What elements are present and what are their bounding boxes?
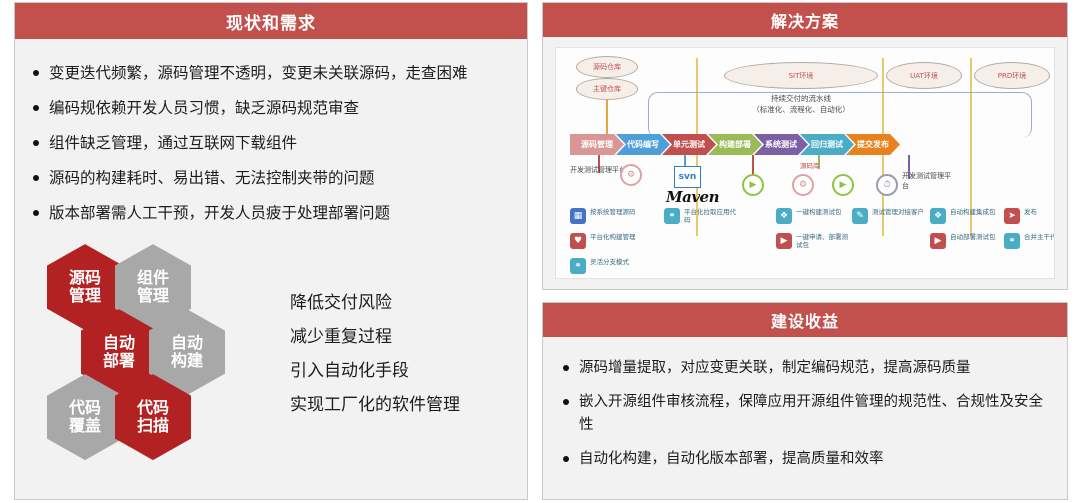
branch-icon: ⚭: [1004, 233, 1020, 249]
issue-text: 变更迭代频繁，源码管理不透明，变更未关联源码，走查困难: [33, 61, 527, 85]
svn-logo-icon: svn: [674, 166, 701, 188]
list-item: ▦ 按系统管理源码: [570, 208, 650, 224]
play-icon: ▶: [776, 233, 792, 249]
legend-label: 平台化构建管理: [590, 233, 636, 241]
cicd-pipeline-diagram: 源码仓库 主键仓库 SIT环境 UAT环境 PRD环境 持续交付的流水线 （标准…: [555, 47, 1055, 279]
pipeline-stage-row: 源码管理 代码编写 单元测试 构建部署 系统测试 回归测试 提交发布: [570, 134, 892, 155]
send-icon: ➤: [1004, 208, 1020, 224]
goal-text: 实现工厂化的软件管理: [290, 388, 460, 422]
hexagon-label-line1: 组件: [137, 269, 169, 287]
benefit-panel: 建设收益 源码增量提取，对应变更关联，制定编码规范，提高源码质量 嵌入开源组件审…: [542, 302, 1068, 500]
hexagon-label-line2: 构建: [171, 352, 203, 370]
solution-panel-title: 解决方案: [543, 3, 1067, 37]
hexagon-label-line1: 源码: [69, 269, 101, 287]
list-item: 编码规依赖开发人员习惯，缺乏源码规范审查: [33, 96, 527, 120]
capability-hexagon-cluster: 源码 管理 组件 管理 自动 部署 自动 构建 代码 覆盖: [47, 239, 277, 469]
list-item: ❖ 自动构建集成包: [930, 208, 1006, 224]
list-item: ⚭ 合并主干代码: [1004, 233, 1055, 249]
list-item: 组件缺乏管理，通过互联网下载组件: [33, 131, 527, 155]
list-item: 自动化构建，自动化版本部署，提高质量和效率: [563, 448, 1049, 470]
legend-label: 自动部署测试包: [950, 233, 996, 241]
legend-label: 灵活分支模式: [590, 258, 629, 266]
issue-list: 变更迭代频繁，源码管理不透明，变更未关联源码，走查困难 编码规依赖开发人员习惯，…: [33, 61, 527, 225]
build-repository-node: 主键仓库: [576, 78, 638, 100]
gauge-icon: ⏱: [876, 174, 898, 196]
pipeline-caption: 持续交付的流水线 （标准化、流程化、自动化）: [706, 94, 896, 116]
grid-icon: ▦: [570, 208, 586, 224]
pipeline-caption-line2: （标准化、流程化、自动化）: [706, 105, 896, 116]
list-item: ⚭ 灵活分支模式: [570, 258, 650, 274]
issue-text: 源码的构建耗时、易出错、无法控制夹带的问题: [33, 166, 527, 190]
play-icon: ▶: [930, 233, 946, 249]
legend-column-3: ❖ 一键构建测试包 ▶ 一键申请、部署测试包: [776, 208, 856, 259]
hexagon-label-line2: 部署: [103, 352, 135, 370]
source-repo-mini-label: 源码库: [800, 160, 820, 170]
environment-node-sit: SIT环境: [724, 62, 878, 89]
hexagon-label-line2: 覆盖: [69, 417, 101, 435]
goal-list: 降低交付风险 减少重复过程 引入自动化手段 实现工厂化的软件管理: [290, 286, 460, 422]
branch-icon: ⚭: [664, 208, 680, 224]
legend-label: 自动构建集成包: [950, 208, 996, 216]
legend-label: 测试管理对接客户: [872, 208, 924, 216]
list-item: ▶ 一键申请、部署测试包: [776, 233, 856, 250]
environment-node-uat: UAT环境: [886, 62, 962, 89]
list-item: ▶ 自动部署测试包: [930, 233, 1006, 249]
pipeline-stage-unit-test: 单元测试: [662, 134, 716, 155]
goal-text: 降低交付风险: [290, 286, 460, 320]
pipeline-caption-line1: 持续交付的流水线: [706, 94, 896, 105]
benefit-panel-body: 源码增量提取，对应变更关联，制定编码规范，提高源码质量 嵌入开源组件审核流程，保…: [543, 357, 1067, 471]
branch-icon: ⚭: [570, 258, 586, 274]
legend-column-1: ▦ 按系统管理源码 ♥ 平台化构建管理 ⚭ 灵活分支模式: [570, 208, 650, 279]
list-item: ♥ 平台化构建管理: [570, 233, 650, 249]
legend-label: 按系统管理源码: [590, 208, 636, 216]
repo-connector-line: [606, 100, 608, 134]
benefit-panel-title: 建设收益: [543, 303, 1067, 337]
current-status-panel-body: 变更迭代频繁，源码管理不透明，变更未关联源码，走查困难 编码规依赖开发人员习惯，…: [15, 61, 527, 469]
solution-panel-body: 源码仓库 主键仓库 SIT环境 UAT环境 PRD环境 持续交付的流水线 （标准…: [543, 47, 1067, 279]
dev-platform-label-2: 开发测试管理平台: [902, 172, 956, 192]
issue-text: 版本部署需人工干预，开发人员疲于处理部署问题: [33, 201, 527, 225]
hexagon-label-line1: 自动: [171, 334, 203, 352]
play-icon: ▶: [742, 174, 764, 196]
legend-column-6: ➤ 发布 ⚭ 合并主干代码: [1004, 208, 1055, 258]
edit-icon: ✎: [852, 208, 868, 224]
pipeline-stage-build-deploy: 构建部署: [708, 134, 762, 155]
legend-label: 一键构建测试包: [796, 208, 842, 216]
list-item: 源码的构建耗时、易出错、无法控制夹带的问题: [33, 166, 527, 190]
list-item: 嵌入开源组件审核流程，保障应用开源组件管理的规范性、合规性及安全性: [563, 391, 1049, 436]
solution-panel: 解决方案 源码仓库 主键仓库 SIT环境 UAT环境 PRD环境 持续交付的流水…: [542, 2, 1068, 290]
legend-column-4: ✎ 测试管理对接客户: [852, 208, 932, 233]
list-item: 源码增量提取，对应变更关联，制定编码规范，提高源码质量: [563, 357, 1049, 379]
package-icon: ❖: [776, 208, 792, 224]
bullet-dot-icon: [33, 70, 39, 76]
goal-text: 引入自动化手段: [290, 354, 460, 388]
hexagon-label-line1: 代码: [69, 399, 101, 417]
legend-label: 发布: [1024, 208, 1037, 216]
list-item: ✎ 测试管理对接客户: [852, 208, 932, 224]
slide-root: 现状和需求 变更迭代频繁，源码管理不透明，变更未关联源码，走查困难 编码规依赖开…: [0, 0, 1080, 503]
legend-column-5: ❖ 自动构建集成包 ▶ 自动部署测试包: [930, 208, 1006, 258]
pipeline-stage-code-writing: 代码编写: [616, 134, 670, 155]
hexagon-label-line2: 扫描: [137, 417, 169, 435]
current-status-panel: 现状和需求 变更迭代频繁，源码管理不透明，变更未关联源码，走查困难 编码规依赖开…: [14, 2, 528, 500]
list-item: ⚭ 平台化拉取应用代码: [664, 208, 744, 225]
bullet-dot-icon: [563, 365, 569, 371]
bullet-dot-icon: [33, 175, 39, 181]
hexagon-label-line2: 管理: [137, 287, 169, 305]
benefit-text: 源码增量提取，对应变更关联，制定编码规范，提高源码质量: [563, 357, 1049, 379]
benefit-text: 嵌入开源组件审核流程，保障应用开源组件管理的规范性、合规性及安全性: [563, 391, 1049, 436]
gear-icon: ⚙: [792, 174, 814, 196]
bullet-dot-icon: [33, 210, 39, 216]
hexagon-label-line2: 管理: [69, 287, 101, 305]
play-icon: ▶: [832, 174, 854, 196]
source-repository-node: 源码仓库: [576, 56, 638, 78]
legend-label: 合并主干代码: [1024, 233, 1055, 241]
bullet-dot-icon: [33, 140, 39, 146]
legend-column-2: ⚭ 平台化拉取应用代码: [664, 208, 744, 234]
maven-logo-icon: Maven: [666, 188, 719, 206]
hexagon-label-line1: 代码: [137, 399, 169, 417]
issue-text: 组件缺乏管理，通过互联网下载组件: [33, 131, 527, 155]
pipeline-stage-system-test: 系统测试: [754, 134, 808, 155]
list-item: 变更迭代频繁，源码管理不透明，变更未关联源码，走查困难: [33, 61, 527, 85]
pipeline-stage-regression-test: 回归测试: [800, 134, 854, 155]
heart-icon: ♥: [570, 233, 586, 249]
issue-text: 编码规依赖开发人员习惯，缺乏源码规范审查: [33, 96, 527, 120]
benefit-text: 自动化构建，自动化版本部署，提高质量和效率: [563, 448, 1049, 470]
current-status-panel-title: 现状和需求: [15, 3, 527, 39]
legend-label: 平台化拉取应用代码: [684, 208, 742, 225]
package-icon: ❖: [930, 208, 946, 224]
bullet-dot-icon: [33, 105, 39, 111]
legend-label: 一键申请、部署测试包: [796, 233, 854, 250]
goal-text: 减少重复过程: [290, 320, 460, 354]
list-item: ➤ 发布: [1004, 208, 1055, 224]
environment-node-prd: PRD环境: [974, 62, 1050, 89]
list-item: 版本部署需人工干预，开发人员疲于处理部署问题: [33, 201, 527, 225]
benefit-list: 源码增量提取，对应变更关联，制定编码规范，提高源码质量 嵌入开源组件审核流程，保…: [563, 357, 1049, 471]
hexagon-label-line1: 自动: [103, 334, 135, 352]
gear-icon: ⚙: [620, 164, 642, 186]
pipeline-stage-source-management: 源码管理: [570, 134, 624, 155]
pipeline-stage-release: 提交发布: [846, 134, 900, 155]
list-item: ❖ 一键构建测试包: [776, 208, 856, 224]
